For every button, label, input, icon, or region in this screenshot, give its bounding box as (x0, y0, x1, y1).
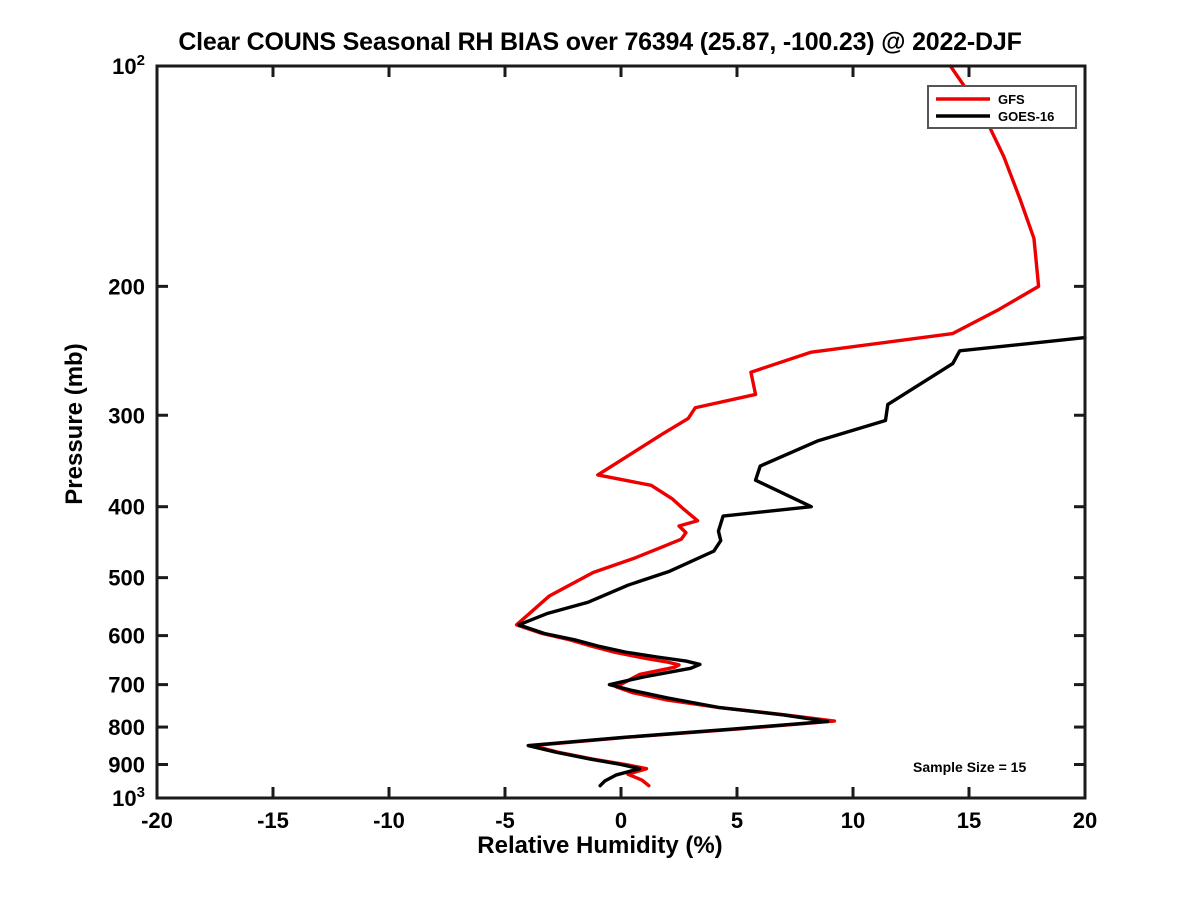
y-tick-label: 400 (108, 495, 145, 520)
y-tick-label: 300 (108, 403, 145, 428)
y-tick-label: 700 (108, 673, 145, 698)
y-tick-label: 200 (108, 274, 145, 299)
series-group (157, 66, 1085, 798)
y-tick-label: 103 (112, 784, 145, 811)
y-tick-label: 500 (108, 566, 145, 591)
y-tick-label: 600 (108, 624, 145, 649)
x-tick-label: 10 (841, 808, 865, 833)
x-tick-label: 15 (957, 808, 981, 833)
legend-label-gfs: GFS (998, 92, 1025, 107)
series-line-goes-16 (519, 338, 1085, 786)
y-tick-label: 900 (108, 753, 145, 778)
sample-size-annotation: Sample Size = 15 (913, 759, 1026, 775)
x-tick-label: -20 (141, 808, 173, 833)
x-tick-label: 0 (615, 808, 627, 833)
x-tick-label: -15 (257, 808, 289, 833)
chart-figure: Clear COUNS Seasonal RH BIAS over 76394 … (0, 0, 1200, 900)
series-line-gfs (517, 66, 1039, 786)
sample-size-text: Sample Size = 15 (913, 759, 1026, 775)
plot-canvas: -20-15-10-505101520102200300400500600700… (0, 0, 1200, 900)
x-tick-label: 5 (731, 808, 743, 833)
x-tick-label: -10 (373, 808, 405, 833)
y-axis-title: Pressure (mb) (61, 274, 89, 574)
legend-label-goes-16: GOES-16 (998, 109, 1054, 124)
x-tick-label: -5 (495, 808, 515, 833)
x-tick-label: 20 (1073, 808, 1097, 833)
y-tick-label: 800 (108, 715, 145, 740)
x-axis-title: Relative Humidity (%) (0, 832, 1200, 860)
axes-group: -20-15-10-505101520102200300400500600700… (108, 52, 1097, 833)
y-tick-label: 102 (112, 52, 145, 79)
legend-box: GFSGOES-16 (928, 86, 1076, 128)
